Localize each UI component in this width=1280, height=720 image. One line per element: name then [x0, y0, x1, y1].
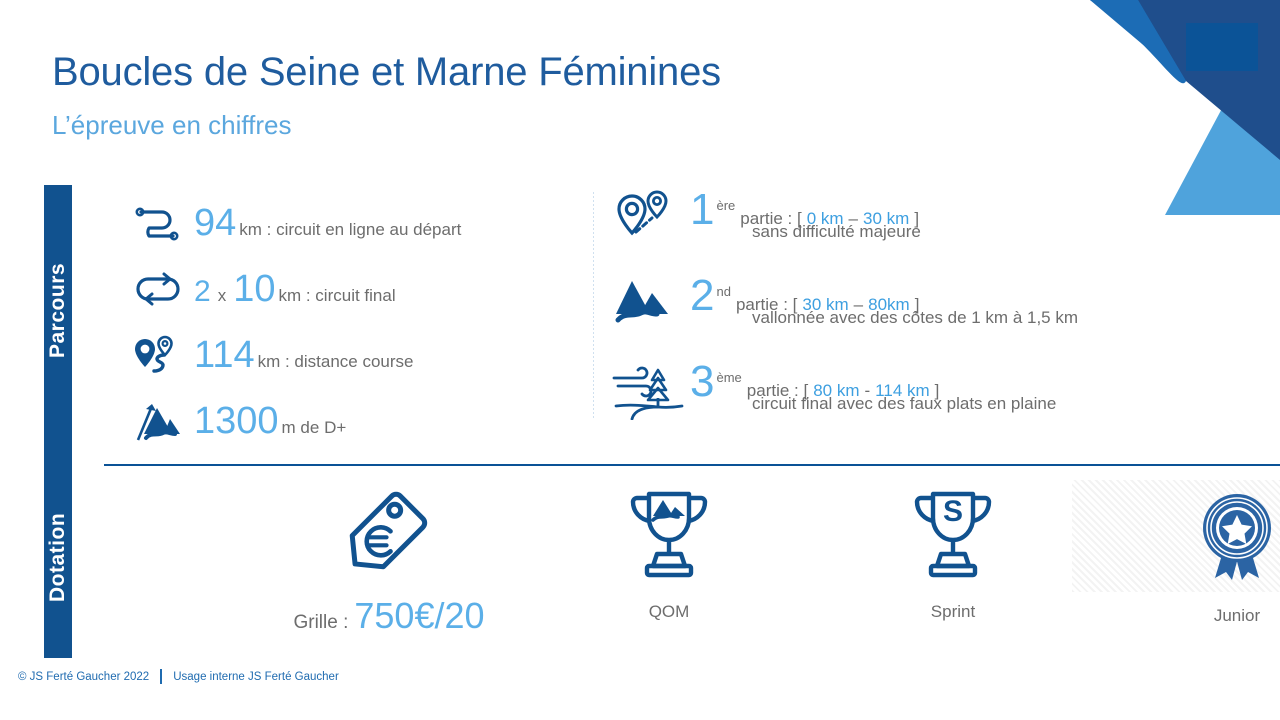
part-row: 2 nd partie : [ 30 km – 80km ] vallonnée…	[612, 272, 1272, 358]
page-subtitle: L’épreuve en chiffres	[52, 110, 291, 141]
part-ordinal: nd	[714, 284, 730, 299]
stat-value: 114	[194, 336, 255, 374]
horizontal-divider	[104, 464, 1280, 466]
grille-value: 750€/20	[354, 598, 484, 634]
stat-value: 1300	[194, 402, 279, 440]
vertical-divider	[593, 192, 594, 420]
stat-value: 94	[194, 204, 236, 242]
dotation-section: Grille : 750€/20 QOM	[104, 472, 1280, 658]
map-pins-route-icon	[132, 335, 194, 375]
prize-label: QOM	[504, 602, 834, 622]
trophy-sprint-icon: S	[788, 480, 1118, 588]
mountain-arrow-icon	[132, 400, 194, 442]
stat-row: 114 km : distance course	[132, 322, 582, 388]
svg-text:S: S	[943, 495, 963, 528]
stat-row: 1300 m de D+	[132, 388, 582, 454]
part-ordinal: ème	[714, 370, 741, 385]
prize-label: Junior	[1072, 606, 1280, 626]
stat-row: 2 x 10 km : circuit final	[132, 256, 582, 322]
slide-canvas: Boucles de Seine et Marne Féminines L’ép…	[0, 0, 1280, 720]
two-map-pins-icon	[612, 186, 690, 246]
part-number: 3	[690, 360, 714, 404]
stat-value-2: 10	[233, 270, 275, 308]
part-number: 1	[690, 188, 714, 232]
mountain-icon	[612, 272, 690, 328]
stat-row: 94 km : circuit en ligne au départ	[132, 190, 582, 256]
part-detail: sans difficulté majeure	[690, 222, 921, 242]
footer-notice: Usage interne JS Ferté Gaucher	[173, 671, 339, 683]
footer: © JS Ferté Gaucher 2022 Usage interne JS…	[18, 669, 339, 684]
stat-description: km : distance course	[255, 352, 414, 372]
prize-label: Sprint	[788, 602, 1118, 622]
part-row: 3 ème partie : [ 80 km - 114 km ] circui…	[612, 358, 1272, 444]
wind-tree-plain-icon	[612, 358, 690, 420]
stat-description: km : circuit final	[275, 286, 395, 306]
prize-sprint: S Sprint	[788, 480, 1118, 622]
footer-copyright: © JS Ferté Gaucher 2022	[18, 671, 149, 683]
medal-ribbon-icon	[1072, 480, 1280, 592]
part-number: 2	[690, 274, 714, 318]
route-line-icon	[132, 205, 194, 241]
section-label-parcours: Parcours	[44, 235, 72, 385]
loop-circuit-icon	[132, 271, 194, 307]
part-row: 1 ère partie : [ 0 km – 30 km ] sans dif…	[612, 186, 1272, 272]
page-title: Boucles de Seine et Marne Féminines	[52, 50, 721, 95]
prize-qom: QOM	[504, 480, 834, 622]
footer-separator	[160, 669, 162, 684]
section-label-dotation: Dotation	[44, 475, 72, 640]
stat-description: m de D+	[279, 418, 347, 438]
trophy-mountain-icon	[504, 480, 834, 588]
stat-description: km : circuit en ligne au départ	[236, 220, 461, 240]
corner-decoration	[990, 0, 1280, 215]
grille-label: Grille :	[293, 612, 354, 634]
parcours-parts-list: 1 ère partie : [ 0 km – 30 km ] sans dif…	[612, 186, 1272, 444]
part-ordinal: ère	[714, 198, 735, 213]
prize-junior: Junior	[1072, 480, 1280, 626]
parcours-stats-list: 94 km : circuit en ligne au départ 2 x 1…	[132, 190, 582, 454]
stat-multiplier: x	[211, 286, 234, 306]
stat-value: 2	[194, 277, 211, 307]
